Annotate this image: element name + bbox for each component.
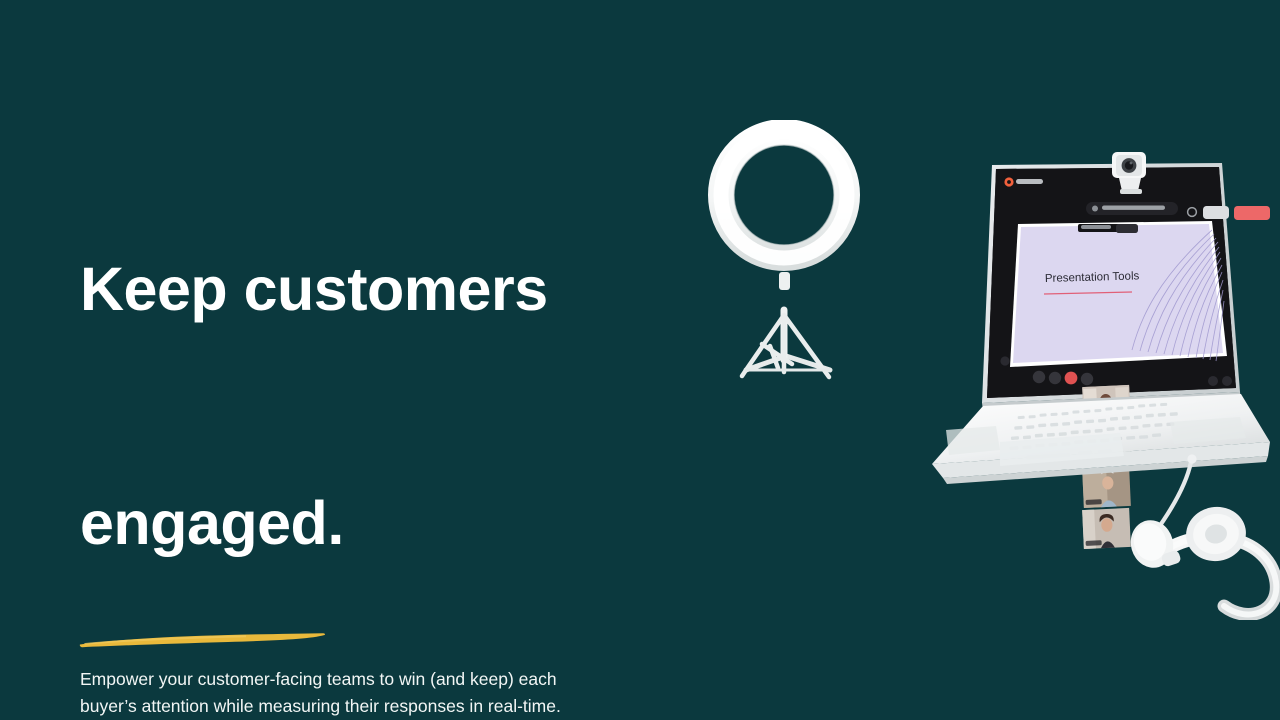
headline-line-2-wrapper: engaged. <box>80 406 344 640</box>
ring-light-icon <box>721 132 847 377</box>
sharing-status-badge <box>1086 202 1178 215</box>
app-menu-icon[interactable] <box>1000 356 1009 365</box>
participants-header-label <box>1081 225 1111 229</box>
stop-recording-button[interactable] <box>1234 206 1270 220</box>
hardware-illustration: Presentation Tools <box>700 120 1280 620</box>
end-call-button[interactable] <box>1065 372 1078 385</box>
invite-button[interactable] <box>1203 206 1229 219</box>
hero-copy: Keep customers engaged. Empower your cus… <box>80 172 640 720</box>
gallery-view-button[interactable] <box>1116 224 1138 233</box>
headline-line-1: Keep customers <box>80 250 548 328</box>
hero-section: Keep customers engaged. Empower your cus… <box>0 0 1280 720</box>
share-screen-button[interactable] <box>1081 373 1093 385</box>
fullscreen-icon[interactable] <box>1208 376 1218 386</box>
camera-button[interactable] <box>1049 372 1061 384</box>
hero-subcopy: Empower your customer-facing teams to wi… <box>80 666 580 720</box>
participant-tile-4[interactable] <box>1082 508 1131 549</box>
headline-line-2: engaged. <box>80 489 344 557</box>
shared-slide: Presentation Tools <box>1010 221 1227 367</box>
laptop-icon: Presentation Tools <box>932 163 1270 549</box>
headset-icon <box>1125 454 1276 614</box>
more-options-icon[interactable] <box>1222 376 1232 386</box>
microphone-button[interactable] <box>1033 371 1045 383</box>
video-call-app: Presentation Tools <box>987 167 1270 549</box>
page-title: Keep customers engaged. <box>80 172 640 640</box>
underline-brush-icon <box>78 631 326 648</box>
